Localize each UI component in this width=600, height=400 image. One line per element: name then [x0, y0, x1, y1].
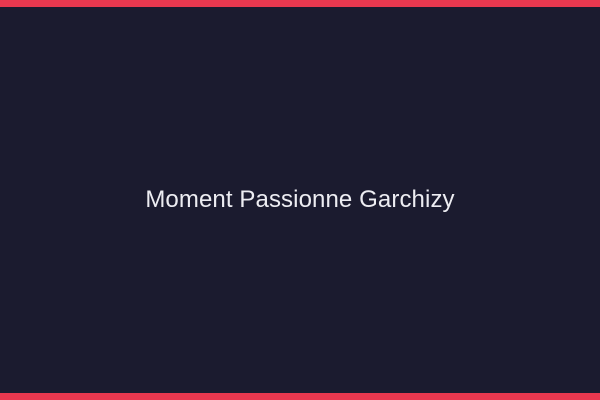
bottom-accent-bar: [0, 393, 600, 400]
page-title: Moment Passionne Garchizy: [145, 185, 454, 215]
card-body: Moment Passionne Garchizy: [0, 7, 600, 393]
placeholder-card: Moment Passionne Garchizy: [0, 0, 600, 400]
top-accent-bar: [0, 0, 600, 7]
